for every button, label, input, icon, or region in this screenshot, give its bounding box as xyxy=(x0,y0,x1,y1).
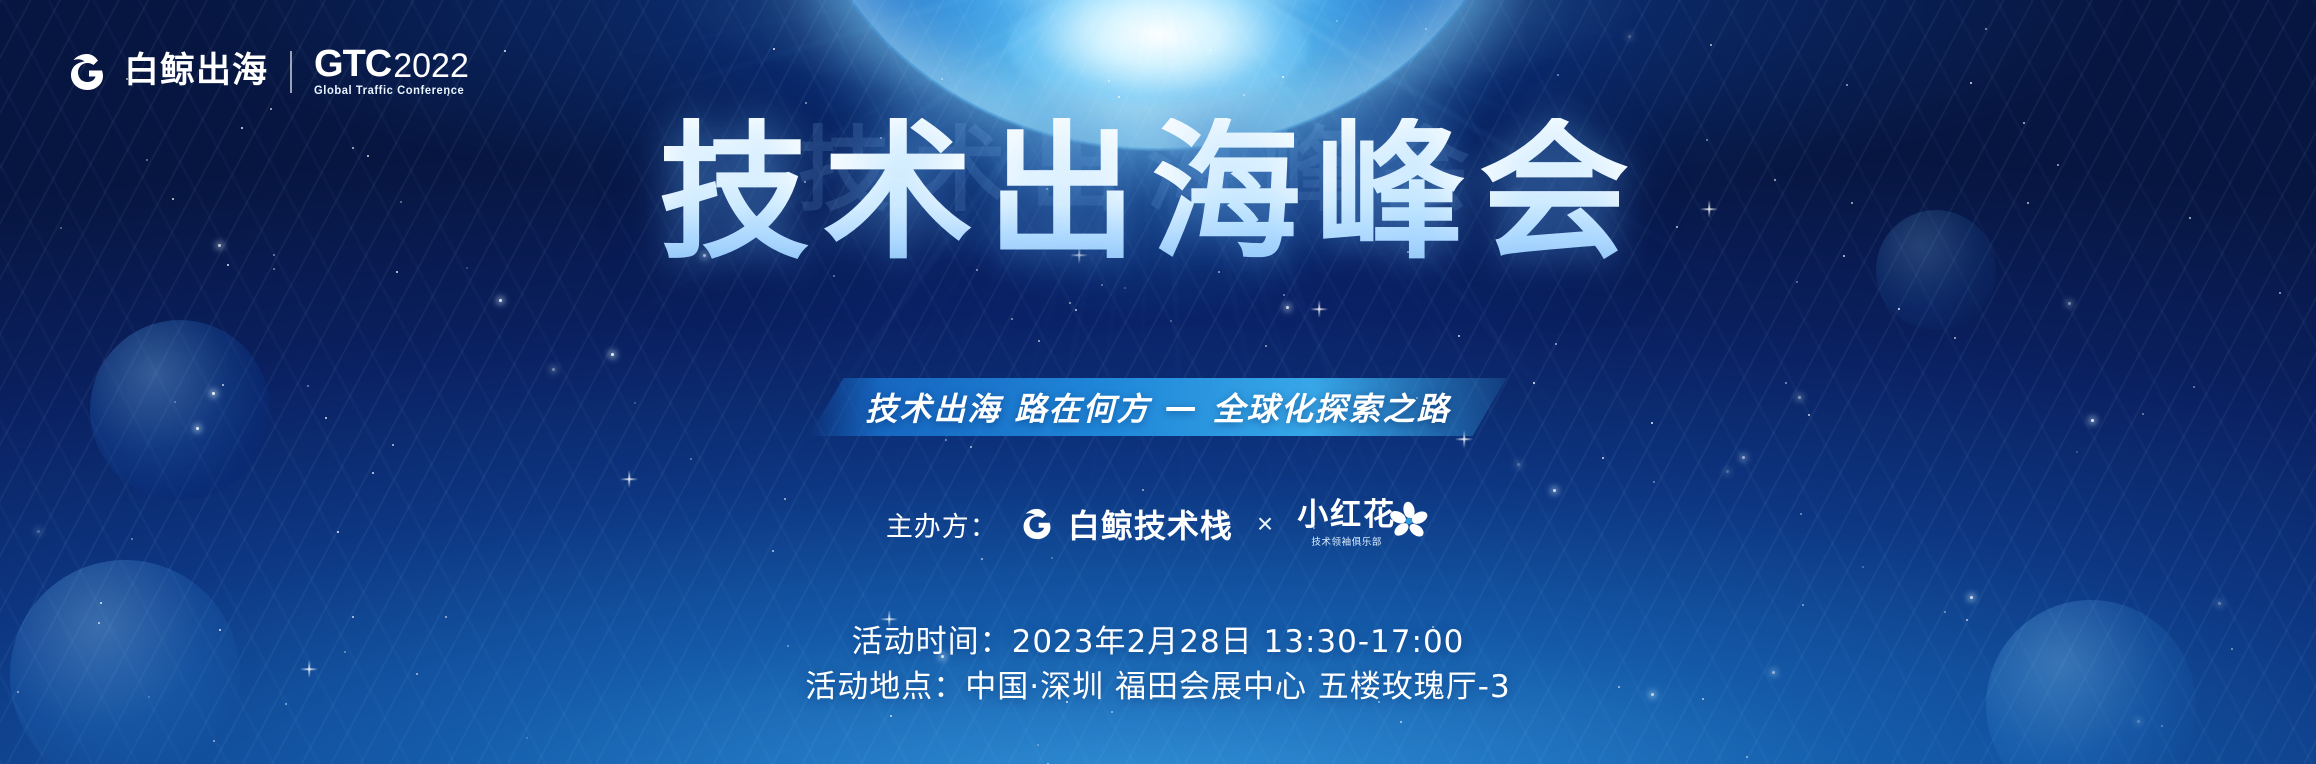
subtitle-right: 全球化探索之路 xyxy=(1213,384,1451,430)
gtc-logo-subtitle: Global Traffic Conference xyxy=(314,85,464,97)
event-location: 活动地点：中国·深圳 福田会展中心 五楼玫瑰厅-3 xyxy=(0,665,2316,710)
baijing-logo[interactable]: 白鲸出海 xyxy=(62,47,268,97)
baijing-logo-text: 白鲸出海 xyxy=(124,54,268,89)
page-title: 技术出海峰会 xyxy=(0,118,2316,268)
subtitle-banner: 技术出海 路在何方 — 全球化探索之路 xyxy=(0,378,2316,436)
organizer-baijing-name: 白鲸技术栈 xyxy=(1068,501,1233,547)
organizer-xiaohonghua-subtitle: 技术领袖俱乐部 xyxy=(1311,534,1382,548)
organizer-xiaohonghua-name: 小红花 xyxy=(1297,500,1396,531)
gtc-logo[interactable]: GTC 2022 Global Traffic Conference xyxy=(314,46,469,97)
subtitle-left: 技术出海 路在何方 xyxy=(865,384,1150,430)
gtc-logo-year: 2022 xyxy=(393,50,469,82)
event-poster: 白鲸出海 GTC 2022 Global Traffic Conference … xyxy=(0,0,2316,764)
whale-g-icon xyxy=(1016,503,1058,545)
bottom-glow-band xyxy=(0,420,2316,764)
organizer-xiaohonghua[interactable]: 小红花 技术领袖俱乐部 xyxy=(1297,500,1430,548)
event-time: 活动时间：2023年2月28日 13:30-17:00 xyxy=(0,620,2316,665)
brand-bar: 白鲸出海 GTC 2022 Global Traffic Conference xyxy=(62,46,469,97)
event-details: 活动时间：2023年2月28日 13:30-17:00 活动地点：中国·深圳 福… xyxy=(0,620,2316,710)
flower-icon xyxy=(1388,500,1430,542)
organizer-baijing-tech[interactable]: 白鲸技术栈 xyxy=(1016,501,1233,547)
cross-icon: × xyxy=(1257,508,1273,540)
whale-g-icon xyxy=(62,47,112,97)
subtitle-bar: 技术出海 路在何方 — 全球化探索之路 xyxy=(809,378,1506,436)
gtc-logo-main: GTC xyxy=(314,46,391,82)
brand-divider xyxy=(290,51,292,93)
organizer-label: 主办方： xyxy=(886,505,998,544)
organizer-row: 主办方： 白鲸技术栈 × 小红花 技术领袖俱乐部 xyxy=(0,500,2316,548)
subtitle-dash: — xyxy=(1165,388,1199,426)
